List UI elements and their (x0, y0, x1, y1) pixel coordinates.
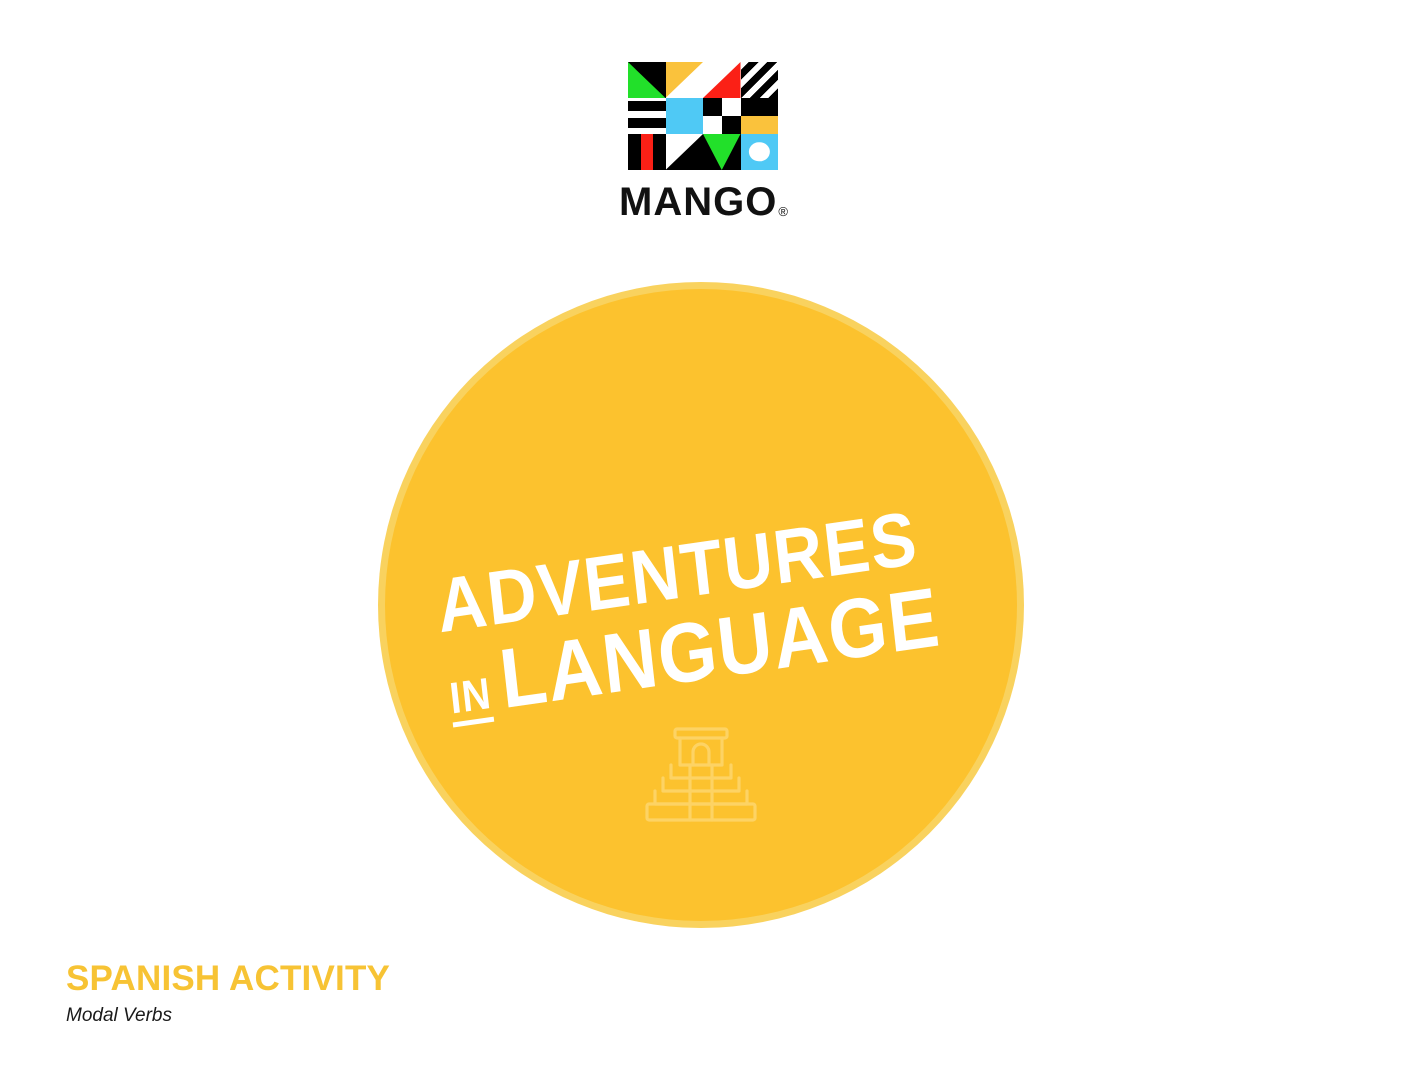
mango-logo (628, 62, 778, 170)
logo-tile-cyan-dot (741, 134, 779, 170)
logo-tile-black-yellow (741, 98, 779, 134)
logo-tile-horizontal-bars (628, 98, 666, 134)
registered-trademark-icon: ® (778, 204, 788, 219)
page-subtitle: Modal Verbs (66, 1005, 390, 1028)
page-title: SPANISH ACTIVITY (66, 960, 390, 999)
logo-tile-red-triangle (703, 62, 741, 98)
activity-footer: SPANISH ACTIVITY Modal Verbs (66, 960, 390, 1027)
brand-name: MANGO (619, 180, 777, 224)
logo-tile-cyan-square (666, 98, 704, 134)
logo-tile-diagonal-stripes (741, 62, 779, 98)
logo-tile-red-bars (628, 134, 666, 170)
mango-wordmark: MANGO® (608, 180, 798, 225)
logo-tile-yellow-triangle (666, 62, 704, 98)
mango-mosaic-grid (628, 62, 778, 170)
logo-tile-green-triangle (628, 62, 666, 98)
adventures-in-language-badge: ADVENTURES INLANGUAGE (378, 282, 1024, 928)
logo-tile-black-triangle (666, 134, 704, 170)
logo-tile-checkerboard (703, 98, 741, 134)
logo-tile-green-triangle-down (703, 134, 741, 170)
mayan-pyramid-icon (641, 722, 761, 832)
